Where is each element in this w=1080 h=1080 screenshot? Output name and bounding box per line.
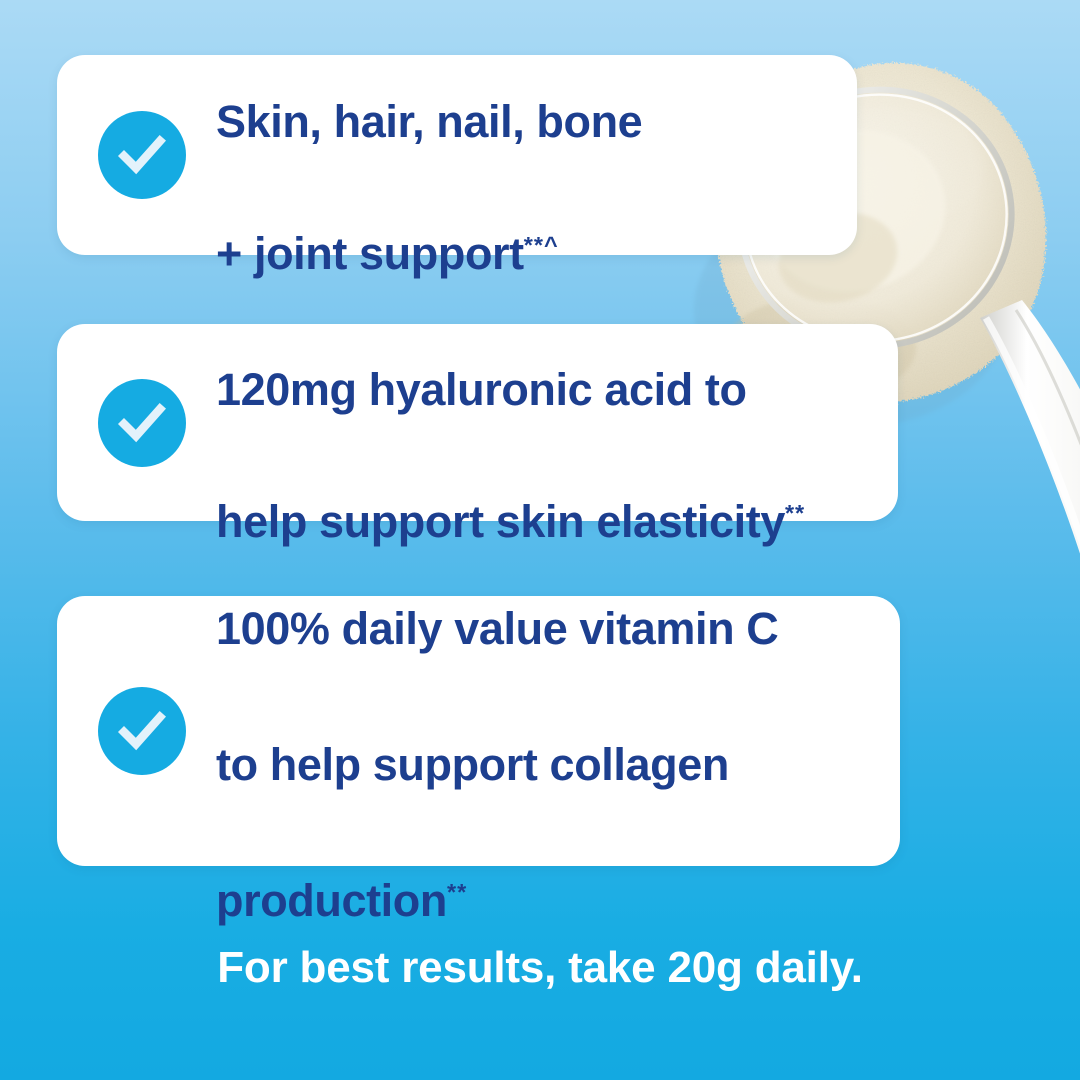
benefit-card-2: 120mg hyaluronic acid to help support sk… [57,324,898,521]
benefit-line-3b: to help support collagen [216,739,729,790]
check-icon [98,379,186,467]
check-icon [98,111,186,199]
benefit-line-3c: production [216,875,447,926]
promo-graphic: TBSP TBSP Skin, hair, nail, bone + joint… [0,0,1080,1080]
benefit-card-1: Skin, hair, nail, bone + joint support**… [57,55,857,255]
benefit-card-3: 100% daily value vitamin C to help suppo… [57,596,900,866]
benefit-line-2a: 120mg hyaluronic acid to [216,364,747,415]
benefit-text-3: 100% daily value vitamin C to help suppo… [216,527,778,935]
benefit-line-1b: + joint support [216,228,524,279]
check-icon [98,687,186,775]
benefit-line-1a: Skin, hair, nail, bone [216,96,642,147]
footnote-marker-1: **^ [524,232,559,258]
footnote-marker-2: ** [785,500,805,526]
benefit-text-1: Skin, hair, nail, bone + joint support**… [216,23,642,287]
usage-instruction: For best results, take 20g daily. [0,938,1080,998]
footnote-marker-3: ** [447,879,467,905]
benefit-text-2: 120mg hyaluronic acid to help support sk… [216,291,805,555]
benefit-line-3a: 100% daily value vitamin C [216,603,778,654]
